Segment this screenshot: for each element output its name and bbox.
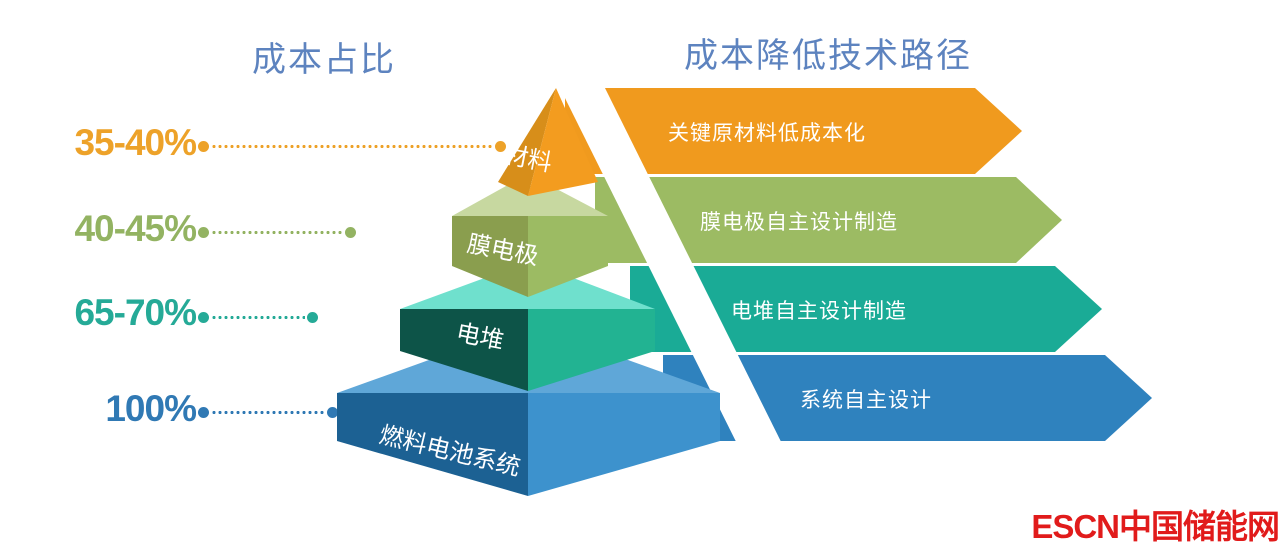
watermark-logo: ESCN中国储能网 (1031, 500, 1279, 548)
infographic-canvas: 成本占比 成本降低技术路径 35-40% 40-45% 65-70% 100% … (0, 0, 1285, 554)
roadmap-banner-label-stack: 电堆自主设计制造 (731, 300, 907, 323)
pyramid-tier-mea: 膜电极 (452, 186, 608, 297)
roadmap-banner-label-system: 系统自主设计 (800, 389, 932, 412)
roadmap-banner-label-materials: 关键原材料低成本化 (668, 122, 866, 145)
roadmap-banner-label-mea: 膜电极自主设计制造 (700, 211, 898, 234)
pyramid-roadmap-graphic: 关键原材料低成本化 膜电极自主设计制造 电堆自主设计制造 系统自主设计 燃料电池… (0, 0, 1285, 554)
